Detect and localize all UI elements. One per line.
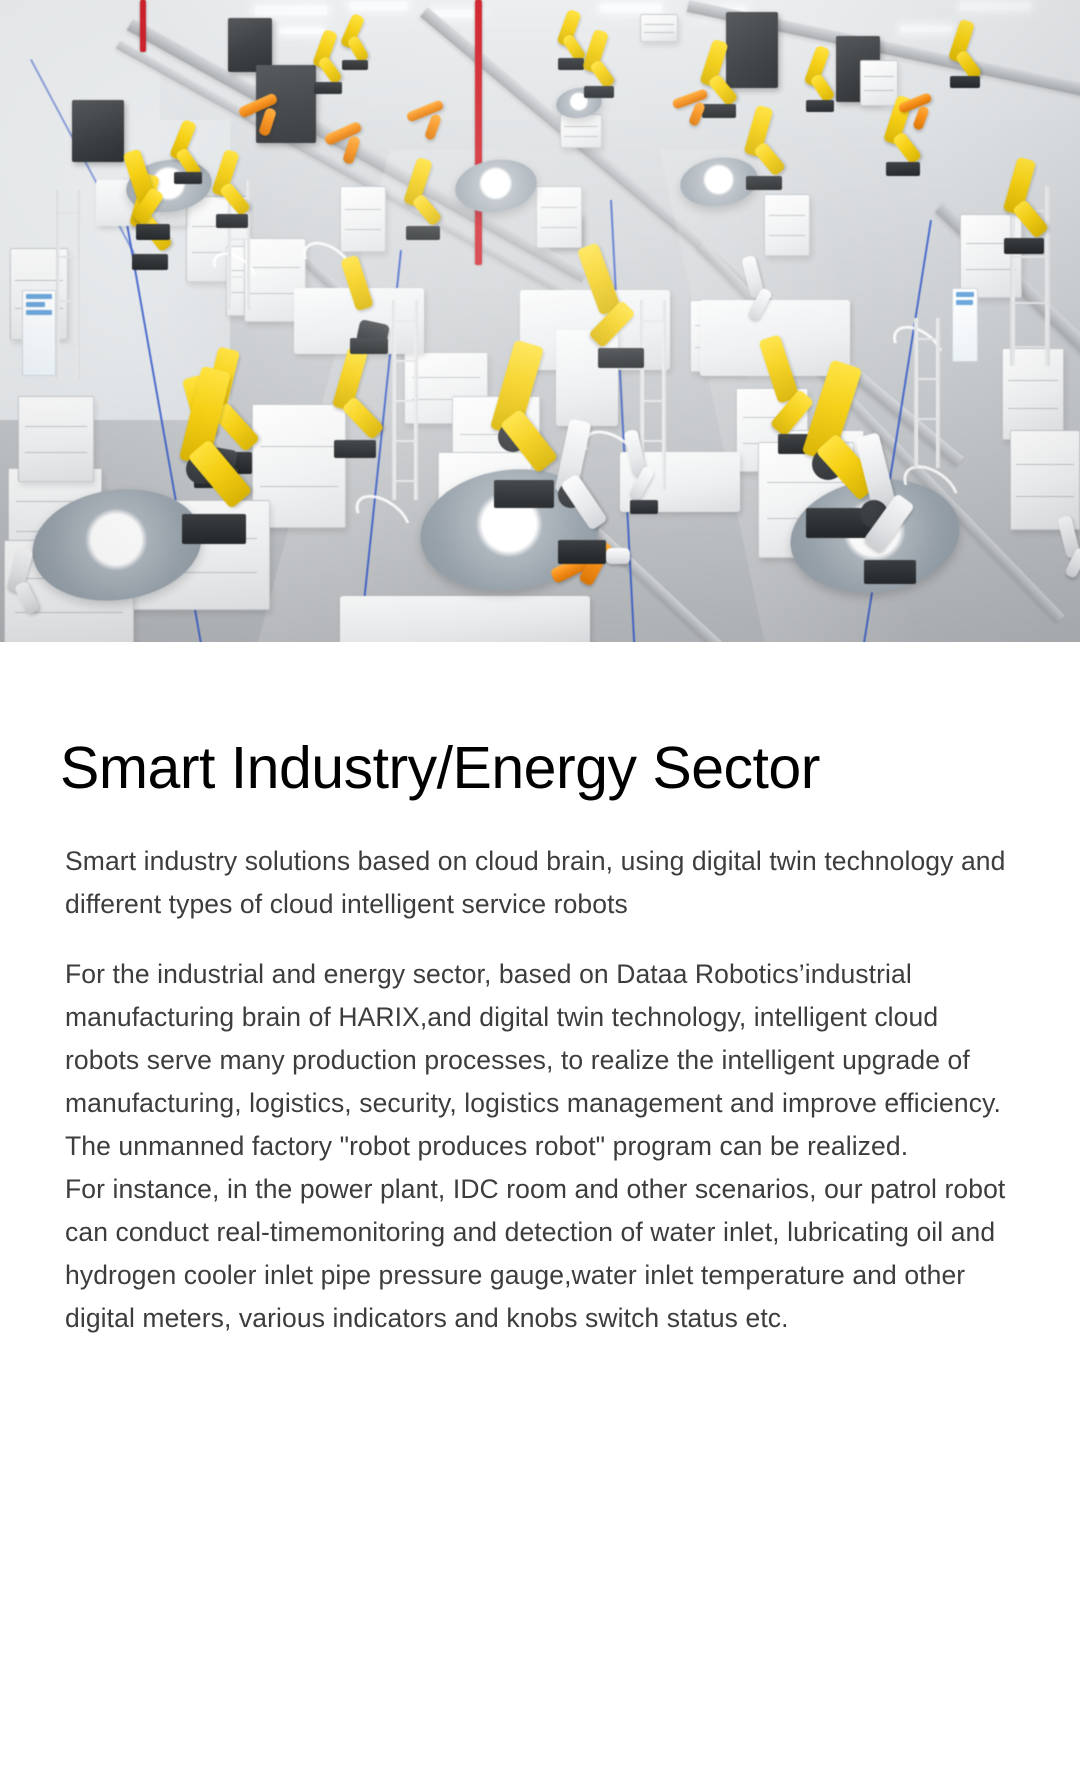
robot-arm-orange [400, 98, 460, 150]
ceiling-light [960, 2, 1030, 10]
ceiling-light [600, 4, 662, 12]
robot-arm-orange [318, 118, 378, 174]
storage-rack [764, 194, 810, 256]
paragraph-unmanned-factory: The unmanned factory "robot produces rob… [65, 1125, 1015, 1168]
wall-sign [22, 290, 56, 376]
storage-rack [18, 396, 94, 482]
hero-image [0, 0, 1080, 642]
paragraph-intro: Smart industry solutions based on cloud … [65, 840, 1015, 926]
robot-arm [328, 348, 394, 458]
content-area: Smart Industry/Energy Sector Smart indus… [0, 642, 1080, 1340]
robot-arm [840, 434, 950, 594]
robot-arm-white [734, 256, 788, 336]
page-title: Smart Industry/Energy Sector [0, 738, 1080, 800]
robot-arm [944, 20, 990, 88]
robot-arm [168, 368, 278, 548]
robot-arm-orange [892, 90, 948, 140]
robot-arm-white [0, 548, 54, 632]
page-root: Smart Industry/Energy Sector Smart indus… [0, 0, 1080, 1785]
storage-rack [640, 14, 678, 42]
paragraph-industrial-sector: For the industrial and energy sector, ba… [65, 953, 1015, 1125]
factory-scene [0, 0, 1080, 642]
robot-arm [210, 150, 260, 228]
machine-cabinet [228, 18, 272, 72]
machine-cabinet [72, 100, 124, 162]
robot-arm [338, 14, 378, 70]
body-copy: Smart industry solutions based on cloud … [0, 840, 1080, 1340]
robot-arm [998, 158, 1060, 254]
robot-arm [800, 46, 844, 112]
robot-arm-white [612, 430, 672, 520]
robot-arm [740, 106, 794, 190]
paragraph-patrol-robot: For instance, in the power plant, IDC ro… [65, 1168, 1015, 1340]
workbench [340, 596, 590, 642]
wall-sign [952, 288, 978, 362]
robot-arm-white [1052, 516, 1080, 596]
ceiling-light [350, 2, 408, 10]
robot-arm [400, 158, 450, 240]
storage-rack [1010, 430, 1080, 530]
robot-arm-orange [232, 90, 292, 144]
storage-rack [536, 186, 582, 248]
safety-post-red [475, 0, 482, 265]
storage-rack [340, 186, 386, 252]
robot-arm-orange [666, 86, 724, 136]
storage-rack [560, 114, 602, 148]
safety-post-red [140, 0, 146, 52]
robot-arm [578, 30, 624, 98]
robot-arm [338, 256, 398, 354]
robot-arm [118, 150, 178, 240]
ceiling-light [255, 6, 327, 15]
support-ladder [56, 190, 80, 380]
